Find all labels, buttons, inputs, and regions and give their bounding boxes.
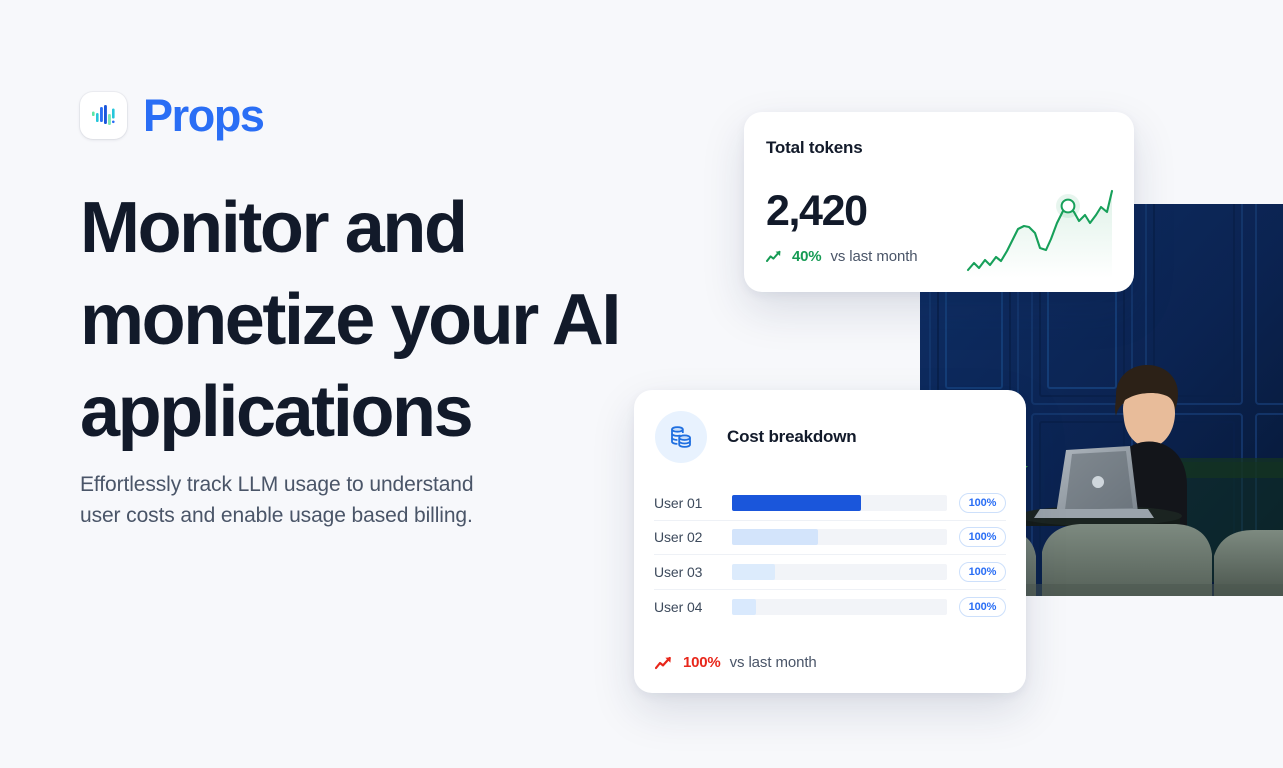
total-tokens-value: 2,420	[766, 190, 867, 233]
usage-bar-track	[732, 529, 947, 545]
table-row[interactable]: User 02 100%	[654, 521, 1006, 556]
cost-breakdown-title: Cost breakdown	[727, 427, 856, 447]
trend-up-arrow-icon	[766, 250, 783, 263]
cost-breakdown-card: Cost breakdown User 01 100% User 02 100%…	[634, 390, 1026, 693]
cost-breakdown-rows: User 01 100% User 02 100% User 03 100%	[654, 486, 1006, 624]
trend-note: vs last month	[830, 248, 917, 265]
row-badge[interactable]: 100%	[959, 493, 1006, 513]
row-label: User 03	[654, 564, 732, 580]
trend-percent: 40%	[792, 248, 821, 265]
coins-stack-icon	[655, 411, 707, 463]
trend-percent: 100%	[683, 654, 721, 671]
usage-bar-fill	[732, 564, 775, 580]
row-badge[interactable]: 100%	[959, 597, 1006, 617]
total-tokens-label: Total tokens	[766, 138, 862, 158]
tokens-sparkline-chart	[966, 186, 1114, 278]
landing-hero-page: Props Monitor and monetize your AI appli…	[0, 0, 1283, 768]
usage-bar-track	[732, 599, 947, 615]
trend-note: vs last month	[730, 654, 817, 671]
usage-bar-fill	[732, 495, 861, 511]
usage-bar-fill	[732, 529, 818, 545]
sparkline-highlight-dot	[1062, 200, 1075, 213]
usage-bar-track	[732, 564, 947, 580]
brand-logo[interactable]: Props	[80, 92, 264, 139]
total-tokens-card: Total tokens 2,420 40% vs last month	[744, 112, 1134, 292]
row-badge[interactable]: 100%	[959, 527, 1006, 547]
page-subtitle: Effortlessly track LLM usage to understa…	[80, 470, 500, 531]
table-row[interactable]: User 04 100%	[654, 590, 1006, 625]
trend-up-arrow-icon	[655, 656, 674, 670]
row-badge[interactable]: 100%	[959, 562, 1006, 582]
brand-wordmark: Props	[143, 93, 264, 138]
cost-breakdown-trend: 100% vs last month	[655, 654, 817, 671]
row-label: User 04	[654, 599, 732, 615]
table-row[interactable]: User 01 100%	[654, 486, 1006, 521]
total-tokens-trend: 40% vs last month	[766, 248, 918, 265]
row-label: User 01	[654, 495, 732, 511]
table-row[interactable]: User 03 100%	[654, 555, 1006, 590]
page-title: Monitor and monetize your AI application…	[80, 182, 700, 458]
usage-bar-track	[732, 495, 947, 511]
usage-bar-fill	[732, 599, 756, 615]
cost-breakdown-header: Cost breakdown	[655, 411, 856, 463]
bar-chart-logo-icon	[80, 92, 127, 139]
row-label: User 02	[654, 529, 732, 545]
